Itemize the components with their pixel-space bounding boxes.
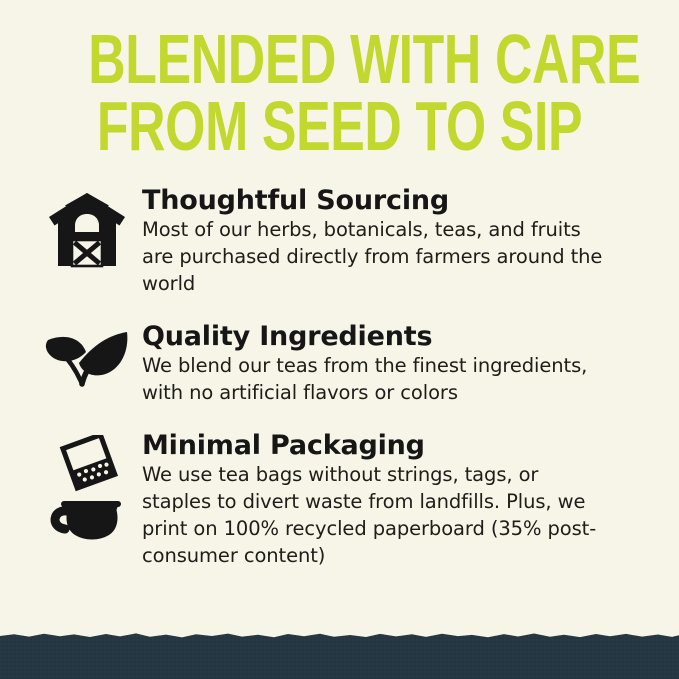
leaves-icon xyxy=(32,322,142,388)
feature-title: Thoughtful Sourcing xyxy=(142,186,655,215)
page-title: BLENDED WITH CARE FROM SEED TO SIP xyxy=(0,26,679,159)
feature-item-thoughtful-sourcing: Thoughtful Sourcing Most of our herbs, b… xyxy=(0,186,679,298)
product-infographic-panel: BLENDED WITH CARE FROM SEED TO SIP xyxy=(0,0,679,679)
feature-item-minimal-packaging: Minimal Packaging We use tea bags withou… xyxy=(0,431,679,570)
feature-text-quality-ingredients: Quality Ingredients We blend our teas fr… xyxy=(142,322,655,407)
feature-title: Minimal Packaging xyxy=(142,431,655,460)
teabag-mug-icon xyxy=(32,431,142,541)
bottom-decorative-band xyxy=(0,631,679,679)
feature-text-minimal-packaging: Minimal Packaging We use tea bags withou… xyxy=(142,431,655,570)
feature-list: Thoughtful Sourcing Most of our herbs, b… xyxy=(0,186,679,570)
feature-title: Quality Ingredients xyxy=(142,322,655,351)
band-texture xyxy=(0,631,679,679)
feature-item-quality-ingredients: Quality Ingredients We blend our teas fr… xyxy=(0,322,679,407)
headline-line-1: BLENDED WITH CARE xyxy=(88,26,590,93)
headline-line-2: FROM SEED TO SIP xyxy=(88,93,590,160)
barn-icon xyxy=(32,186,142,270)
feature-body: We blend our teas from the finest ingred… xyxy=(142,353,612,407)
feature-body: Most of our herbs, botanicals, teas, and… xyxy=(142,217,612,298)
feature-body: We use tea bags without strings, tags, o… xyxy=(142,462,612,570)
feature-text-thoughtful-sourcing: Thoughtful Sourcing Most of our herbs, b… xyxy=(142,186,655,298)
